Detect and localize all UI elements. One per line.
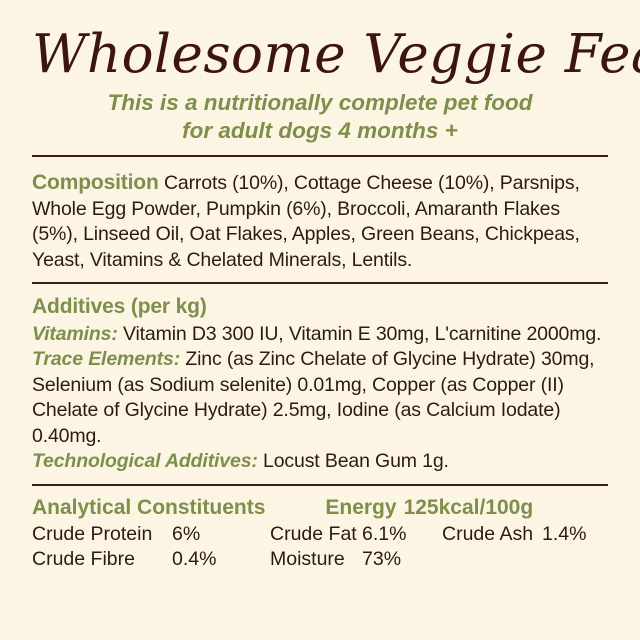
nutrient-value: 6% [172,522,270,547]
analytical-header-row: Analytical Constituents Energy125kcal/10… [32,496,608,520]
technological-additives-text: Locust Bean Gum 1g. [258,450,449,472]
vitamins-label: Vitamins: [32,323,118,345]
nutrient-value: 6.1% [362,522,442,547]
energy-value: 125kcal/100g [404,496,534,519]
nutrient-name: Crude Ash [442,522,542,547]
product-subtitle: This is a nutritionally complete pet foo… [32,89,608,144]
subtitle-line-1: This is a nutritionally complete pet foo… [32,89,608,116]
analytical-constituents-section: Analytical Constituents Energy125kcal/10… [32,496,608,572]
energy-block: Energy125kcal/100g [325,496,533,520]
nutrient-name [442,547,542,572]
divider-above-analytical [32,484,608,486]
subtitle-line-2: for adult dogs 4 months + [32,117,608,144]
pet-food-label: Wholesome Veggie Feast This is a nutriti… [0,0,640,640]
nutrient-table: Crude Protein 6% Crude Fat 6.1% Crude As… [32,522,586,572]
nutrient-name: Crude Fibre [32,547,172,572]
composition-section: Composition Carrots (10%), Cottage Chees… [32,169,608,273]
additives-section: Additives (per kg) Vitamins: Vitamin D3 … [32,293,608,475]
nutrient-value: 0.4% [172,547,270,572]
trace-elements-label: Trace Elements: [32,348,180,370]
vitamins-text: Vitamin D3 300 IU, Vitamin E 30mg, L'car… [118,323,602,345]
divider-above-composition [32,155,608,157]
table-row: Crude Protein 6% Crude Fat 6.1% Crude As… [32,522,586,547]
nutrient-value: 1.4% [542,522,586,547]
product-title: Wholesome Veggie Feast [32,0,608,83]
nutrient-name: Moisture [270,547,362,572]
nutrient-name: Crude Fat [270,522,362,547]
nutrient-value: 73% [362,547,442,572]
additives-heading: Additives (per kg) [32,293,608,321]
divider-above-additives [32,282,608,284]
table-row: Crude Fibre 0.4% Moisture 73% [32,547,586,572]
analytical-heading: Analytical Constituents [32,496,265,520]
energy-label: Energy [325,496,396,519]
technological-additives-label: Technological Additives: [32,450,258,472]
composition-heading: Composition [32,171,159,194]
nutrient-name: Crude Protein [32,522,172,547]
additives-vitamins-line: Vitamins: Vitamin D3 300 IU, Vitamin E 3… [32,322,608,348]
additives-technological-line: Technological Additives: Locust Bean Gum… [32,449,608,475]
additives-trace-line: Trace Elements: Zinc (as Zinc Chelate of… [32,347,608,449]
nutrient-value [542,547,586,572]
